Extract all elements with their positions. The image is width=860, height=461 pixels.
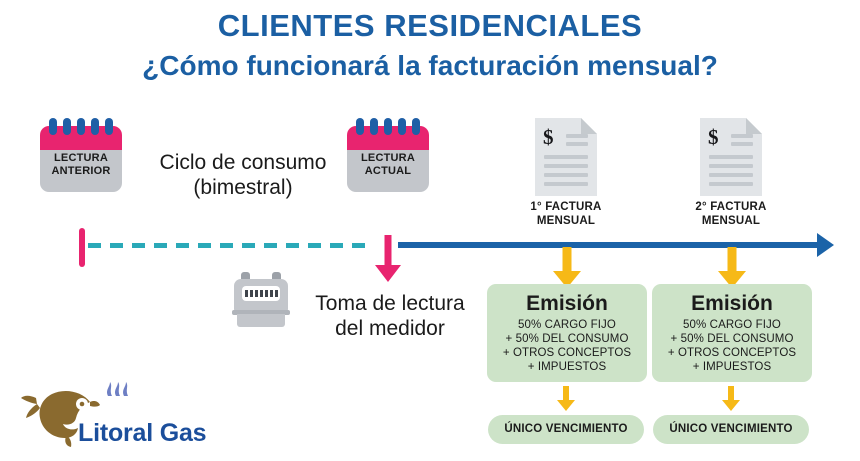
meter-digit (270, 290, 273, 297)
vencimiento-pill-1: ÚNICO VENCIMIENTO (488, 415, 644, 444)
timeline-start-marker (79, 228, 85, 267)
doc-text-line (709, 164, 753, 168)
toma-lectura-line2: del medidor (300, 316, 480, 341)
calendar-label: LECTURA ACTUAL (347, 152, 429, 178)
emision-title: Emisión (487, 292, 647, 316)
invoice-caption-line2: MENSUAL (676, 214, 786, 228)
doc-text-line (544, 182, 588, 186)
toma-lectura-label: Toma de lectura del medidor (300, 291, 480, 341)
page-subtitle: ¿Cómo funcionará la facturación mensual? (0, 50, 860, 82)
calendar-label-line2: ACTUAL (347, 165, 429, 178)
doc-text-line (731, 134, 753, 138)
meter-digit (245, 290, 248, 297)
fish-fin (65, 436, 71, 447)
arrow-head (375, 265, 401, 282)
timeline-arrowhead-icon (817, 233, 834, 257)
emision-title: Emisión (652, 292, 812, 316)
calendar-label-line1: LECTURA (40, 152, 122, 165)
gas-wisps-icon (107, 382, 128, 396)
emision-detail-item: 50% CARGO FIJO (487, 318, 647, 332)
emision-detail-item: + OTROS CONCEPTOS (487, 346, 647, 360)
invoice-caption-line1: 2° FACTURA (676, 200, 786, 214)
arrow-shaft (563, 247, 572, 273)
arrow-head (722, 400, 740, 411)
fish-tail (21, 396, 37, 404)
fish-snout (90, 401, 100, 407)
calendar-ring-icon (356, 118, 364, 135)
calendar-lectura-actual: LECTURA ACTUAL (347, 118, 429, 192)
calendar-ring-icon (63, 118, 71, 135)
arrow-shaft (385, 235, 392, 267)
doc-text-line (709, 155, 753, 159)
doc-text-line (544, 155, 588, 159)
meter-digit (275, 290, 278, 297)
gas-meter-icon (231, 272, 291, 327)
emision-details: 50% CARGO FIJO + 50% DEL CONSUMO + OTROS… (652, 318, 812, 374)
dollar-sign-icon: $ (708, 127, 719, 148)
emision-detail-item: 50% CARGO FIJO (652, 318, 812, 332)
invoice-segunda-factura: $ 2° FACTURA MENSUAL (700, 118, 762, 196)
page-fold-icon (746, 118, 762, 134)
emision-details: 50% CARGO FIJO + 50% DEL CONSUMO + OTROS… (487, 318, 647, 374)
calendar-ring-icon (105, 118, 113, 135)
meter-display (242, 286, 280, 301)
ciclo-line2: (bimestral) (143, 175, 343, 200)
emision-detail-item: + OTROS CONCEPTOS (652, 346, 812, 360)
calendar-ring-icon (384, 118, 392, 135)
emision-box-2: Emisión 50% CARGO FIJO + 50% DEL CONSUMO… (652, 284, 812, 382)
page-fold-icon (581, 118, 597, 134)
meter-digit (255, 290, 258, 297)
dollar-sign-icon: $ (543, 127, 554, 148)
calendar-ring-icon (398, 118, 406, 135)
doc-text-line (731, 142, 753, 146)
meter-digit (260, 290, 263, 297)
calendar-label-line1: LECTURA (347, 152, 429, 165)
calendar-label: LECTURA ANTERIOR (40, 152, 122, 178)
emision-2-to-vencimiento-arrow-icon (721, 386, 741, 412)
factura-1-down-arrow-icon (553, 247, 581, 289)
ciclo-line1: Ciclo de consumo (143, 150, 343, 175)
emision-detail-item: + IMPUESTOS (652, 360, 812, 374)
fish-pupil (80, 402, 85, 407)
emision-detail-item: + IMPUESTOS (487, 360, 647, 374)
doc-text-line (544, 164, 588, 168)
doc-text-line (709, 173, 753, 177)
invoice-caption-line1: 1° FACTURA (511, 200, 621, 214)
ciclo-consumo-label: Ciclo de consumo (bimestral) (143, 150, 343, 200)
meter-digit (250, 290, 253, 297)
calendar-ring-icon (91, 118, 99, 135)
doc-text-line (566, 134, 588, 138)
timeline-dashed-segment (88, 243, 370, 248)
emision-detail-item: + 50% DEL CONSUMO (652, 332, 812, 346)
emision-detail-item: + 50% DEL CONSUMO (487, 332, 647, 346)
calendar-ring-icon (77, 118, 85, 135)
meter-base (237, 314, 285, 327)
calendar-ring-icon (49, 118, 57, 135)
fish-tail-lower (26, 404, 40, 418)
logo-wordmark: Litoral Gas (78, 419, 206, 448)
invoice-caption: 2° FACTURA MENSUAL (676, 200, 786, 228)
emision-box-1: Emisión 50% CARGO FIJO + 50% DEL CONSUMO… (487, 284, 647, 382)
emision-1-to-vencimiento-arrow-icon (556, 386, 576, 412)
invoice-primera-factura: $ 1° FACTURA MENSUAL (535, 118, 597, 196)
calendar-ring-icon (412, 118, 420, 135)
calendar-lectura-anterior: LECTURA ANTERIOR (40, 118, 122, 192)
arrow-head (557, 400, 575, 411)
doc-text-line (544, 173, 588, 177)
doc-text-line (566, 142, 588, 146)
invoice-caption: 1° FACTURA MENSUAL (511, 200, 621, 228)
infographic-canvas: CLIENTES RESIDENCIALES ¿Cómo funcionará … (0, 0, 860, 461)
invoice-caption-line2: MENSUAL (511, 214, 621, 228)
calendar-label-line2: ANTERIOR (40, 165, 122, 178)
timeline-blue-line (398, 242, 818, 248)
toma-lectura-line1: Toma de lectura (300, 291, 480, 316)
arrow-shaft (728, 247, 737, 273)
doc-text-line (709, 182, 753, 186)
factura-2-down-arrow-icon (718, 247, 746, 289)
vencimiento-pill-2: ÚNICO VENCIMIENTO (653, 415, 809, 444)
meter-digit (265, 290, 268, 297)
page-title: CLIENTES RESIDENCIALES (0, 8, 860, 44)
calendar-ring-icon (370, 118, 378, 135)
